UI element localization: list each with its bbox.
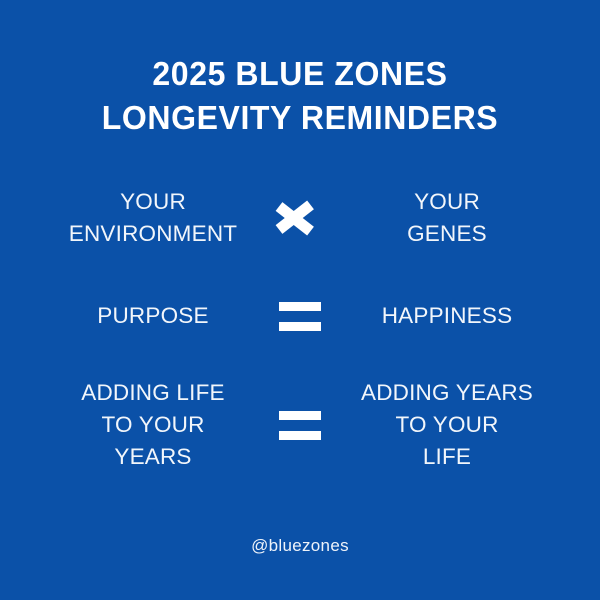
row-3-left-line-3: YEARS: [48, 441, 258, 473]
row-2-right-line-1: HAPPINESS: [342, 300, 552, 332]
row-3-left-line-2: TO YOUR: [48, 409, 258, 441]
row-2-left-term: PURPOSE: [48, 300, 258, 332]
row-2-left-line-1: PURPOSE: [48, 300, 258, 332]
row-3-right-line-1: ADDING YEARS: [342, 377, 552, 409]
equals-sign-icon: [279, 411, 321, 440]
equals-top-bar: [279, 302, 321, 311]
row-1-left-term: YOUR ENVIRONMENT: [48, 186, 258, 250]
equals-sign-icon: [279, 302, 321, 331]
equals-top-bar: [279, 411, 321, 420]
comparison-row-3: ADDING LIFE TO YOUR YEARS ADDING YEARS T…: [0, 366, 600, 484]
greater-than-icon: [264, 191, 336, 245]
title-line-1: 2025 BLUE ZONES: [9, 52, 591, 96]
row-1-left-line-1: YOUR: [48, 186, 258, 218]
equals-bottom-bar: [279, 431, 321, 440]
row-1-right-term: YOUR GENES: [342, 186, 552, 250]
comparison-list: YOUR ENVIRONMENT YOUR GENES PURPOSE: [0, 170, 600, 484]
social-handle: @bluezones: [0, 536, 600, 556]
row-3-right-line-2: TO YOUR: [342, 409, 552, 441]
equals-bottom-bar: [279, 322, 321, 331]
row-1-right-line-2: GENES: [342, 218, 552, 250]
comparison-row-2: PURPOSE HAPPINESS: [0, 266, 600, 366]
chevron-right-icon: [278, 191, 322, 245]
row-3-left-line-1: ADDING LIFE: [48, 377, 258, 409]
row-3-right-term: ADDING YEARS TO YOUR LIFE: [342, 377, 552, 473]
longevity-reminders-card: 2025 BLUE ZONES LONGEVITY REMINDERS YOUR…: [0, 0, 600, 600]
page-title: 2025 BLUE ZONES LONGEVITY REMINDERS: [0, 52, 600, 140]
equals-icon-row-3: [264, 411, 336, 440]
row-1-left-line-2: ENVIRONMENT: [48, 218, 258, 250]
row-1-right-line-1: YOUR: [342, 186, 552, 218]
title-line-2: LONGEVITY REMINDERS: [9, 96, 591, 140]
comparison-row-1: YOUR ENVIRONMENT YOUR GENES: [0, 170, 600, 266]
row-3-left-term: ADDING LIFE TO YOUR YEARS: [48, 377, 258, 473]
row-2-right-term: HAPPINESS: [342, 300, 552, 332]
equals-icon-row-2: [264, 302, 336, 331]
row-3-right-line-3: LIFE: [342, 441, 552, 473]
